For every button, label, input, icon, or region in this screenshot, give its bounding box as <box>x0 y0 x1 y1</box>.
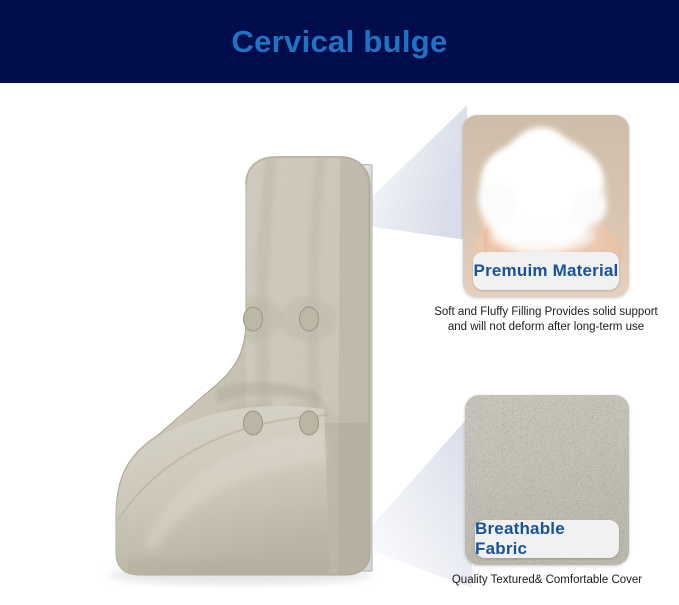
breathable-fabric-photo-card: Breathable Fabric <box>465 395 629 565</box>
breathable-fabric-badge-label: Breathable Fabric <box>475 519 619 559</box>
feature-card-breathable-fabric: Breathable Fabric Quality Textured& Comf… <box>465 395 629 565</box>
page-title: Cervical bulge <box>231 24 447 60</box>
premium-material-caption-line2: and will not deform after long-term use <box>413 320 679 335</box>
premium-material-caption-line1: Soft and Fluffy Filling Provides solid s… <box>413 305 679 320</box>
page-header: Cervical bulge <box>0 0 679 83</box>
content-stage: Premuim Material Soft and Fluffy Filling… <box>0 83 679 605</box>
product-image-wedge-pillow <box>40 123 410 593</box>
breathable-fabric-badge: Breathable Fabric <box>475 520 619 558</box>
premium-material-photo-card: Premuim Material <box>463 115 629 297</box>
premium-material-badge-label: Premuim Material <box>474 261 619 281</box>
infographic-page: Cervical bulge <box>0 0 679 605</box>
breathable-fabric-caption: Quality Textured& Comfortable Cover <box>417 573 677 588</box>
pillow-body <box>40 123 410 593</box>
feature-card-premium-material: Premuim Material Soft and Fluffy Filling… <box>463 115 629 297</box>
breathable-fabric-caption-line1: Quality Textured& Comfortable Cover <box>417 573 677 588</box>
premium-material-badge: Premuim Material <box>473 252 619 290</box>
premium-material-caption: Soft and Fluffy Filling Provides solid s… <box>413 305 679 335</box>
